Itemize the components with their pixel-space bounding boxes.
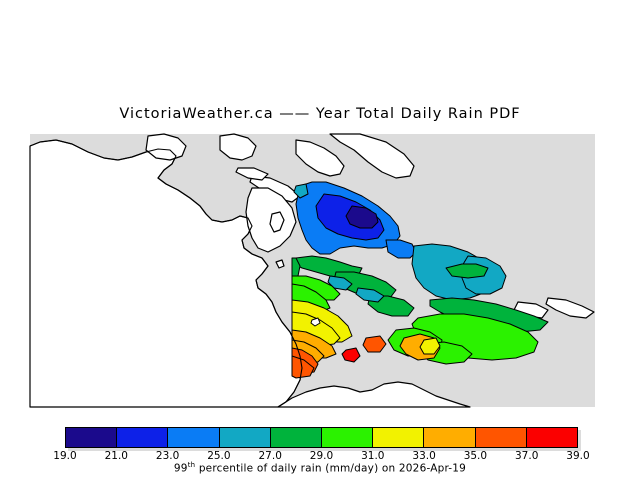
contour-27-29-islet-a (446, 264, 488, 278)
colorbar-band-190to210[interactable] (66, 428, 117, 447)
map-svg (0, 0, 640, 415)
colorbar-band-250to270[interactable] (220, 428, 271, 447)
colorbar[interactable] (65, 427, 578, 448)
caption-percentile-number: 99 (174, 463, 188, 475)
colorbar-caption: 99th percentile of daily rain (mm/day) o… (0, 461, 640, 475)
colorbar-band-330to350[interactable] (424, 428, 475, 447)
map-canvas[interactable] (0, 0, 640, 415)
caption-text: percentile of daily rain (mm/day) on 202… (195, 463, 466, 475)
colorbar-band-310to330[interactable] (373, 428, 424, 447)
colorbar-band-210to230[interactable] (117, 428, 168, 447)
colorbar-band-290to310[interactable] (322, 428, 373, 447)
colorbar-band-270to290[interactable] (271, 428, 322, 447)
weather-map-page: VictoriaWeather.ca —— Year Total Daily R… (0, 0, 640, 480)
colorbar-band-370to390[interactable] (527, 428, 577, 447)
colorbar-band-230to250[interactable] (168, 428, 219, 447)
colorbar-band-350to370[interactable] (476, 428, 527, 447)
